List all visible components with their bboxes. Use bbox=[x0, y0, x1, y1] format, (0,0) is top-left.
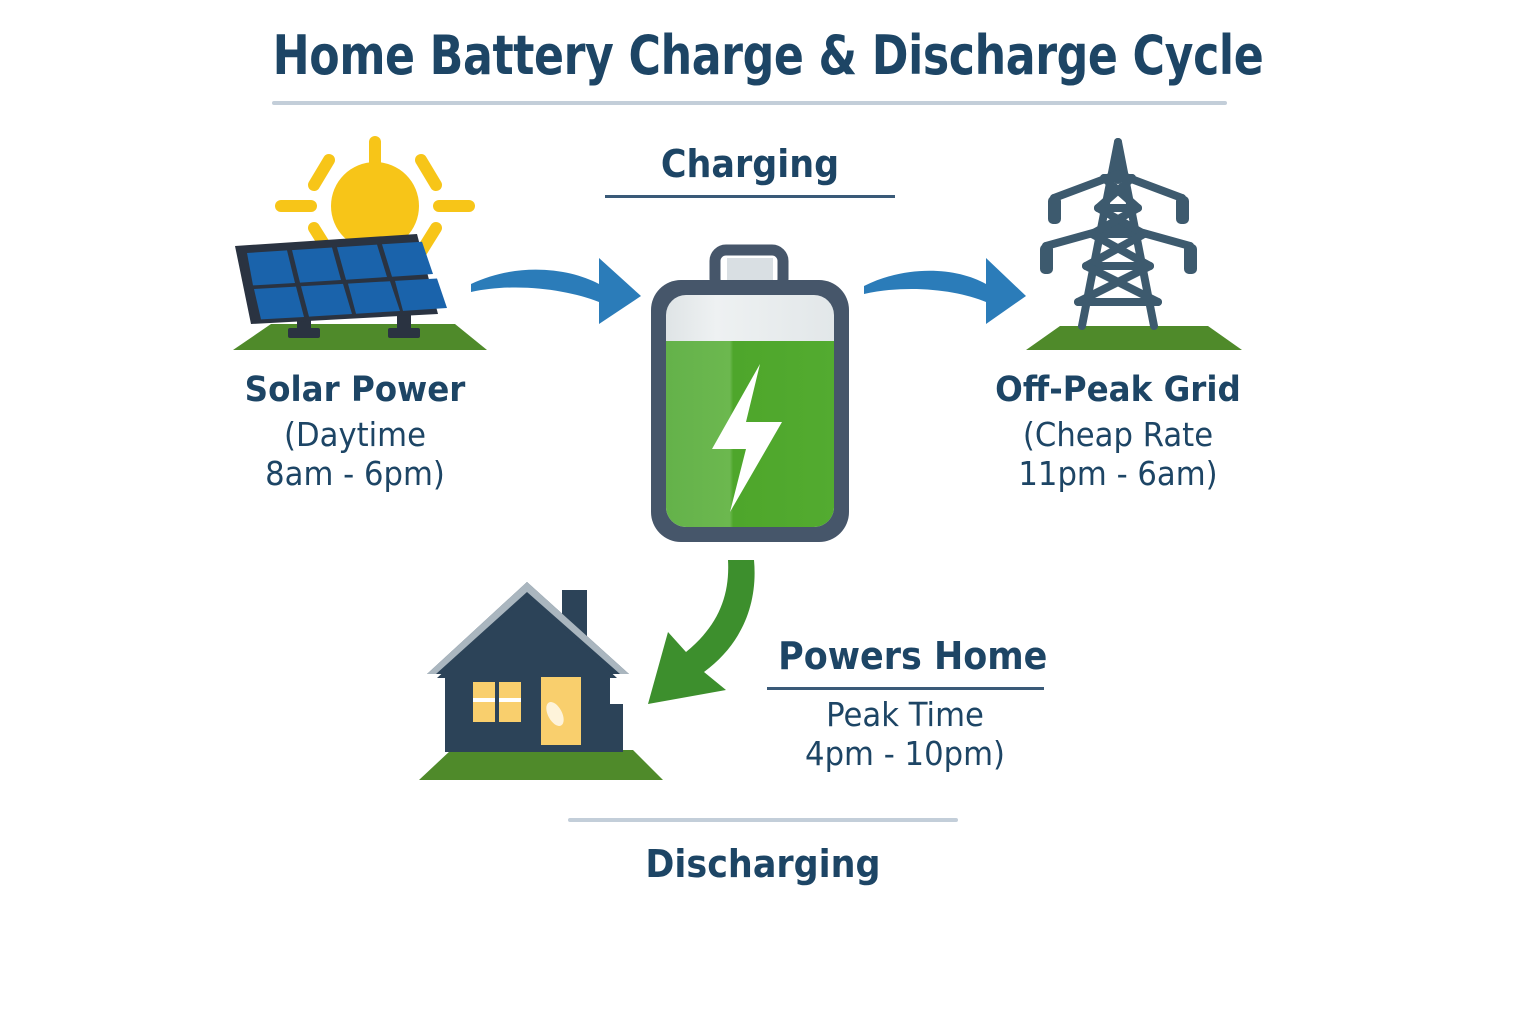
charging-divider bbox=[605, 195, 895, 198]
arrow-solar-to-battery bbox=[465, 252, 645, 328]
solar-subtitle-line2: 8am - 6pm) bbox=[188, 457, 523, 492]
stage-charging: Charging bbox=[605, 142, 895, 198]
solar-subtitle-line1: (Daytime bbox=[188, 418, 523, 453]
solar-label-block: Solar Power (Daytime 8am - 6pm) bbox=[175, 372, 535, 492]
infographic-canvas: Home Battery Charge & Discharge Cycle bbox=[0, 0, 1536, 1024]
charging-label: Charging bbox=[617, 142, 884, 186]
powers-home-sublabels: Peak Time 4pm - 10pm) bbox=[730, 698, 1080, 772]
tower-lattice bbox=[1046, 142, 1190, 326]
grid-title: Off-Peak Grid bbox=[951, 372, 1286, 409]
powers-home-divider bbox=[767, 687, 1044, 690]
arrow-right-icon bbox=[864, 258, 1026, 324]
house-ground bbox=[419, 750, 663, 780]
battery-charging-icon bbox=[636, 246, 864, 552]
solar-ground bbox=[233, 324, 487, 350]
peak-time-line1: Peak Time bbox=[742, 698, 1068, 733]
transmission-tower-icon bbox=[1020, 124, 1248, 358]
peak-time-line2: 4pm - 10pm) bbox=[742, 737, 1068, 772]
stage-discharging: Discharging bbox=[568, 818, 958, 886]
page-title: Home Battery Charge & Discharge Cycle bbox=[138, 24, 1398, 87]
house-icon bbox=[415, 562, 665, 792]
stage-powers-home: Powers Home bbox=[767, 634, 1044, 690]
grid-subtitle-line2: 11pm - 6am) bbox=[951, 457, 1286, 492]
tower-ground bbox=[1026, 326, 1242, 350]
solar-panel-with-sun-icon bbox=[225, 128, 495, 360]
title-divider bbox=[272, 101, 1227, 105]
arrow-right-icon bbox=[471, 258, 641, 324]
discharging-divider bbox=[568, 818, 958, 822]
solar-title: Solar Power bbox=[188, 372, 523, 409]
powers-home-label: Powers Home bbox=[778, 634, 1033, 678]
discharging-label: Discharging bbox=[584, 842, 943, 886]
arrow-battery-to-grid bbox=[860, 252, 1030, 328]
grid-subtitle-line1: (Cheap Rate bbox=[951, 418, 1286, 453]
grid-label-block: Off-Peak Grid (Cheap Rate 11pm - 6am) bbox=[938, 372, 1298, 492]
house-body bbox=[445, 666, 610, 752]
